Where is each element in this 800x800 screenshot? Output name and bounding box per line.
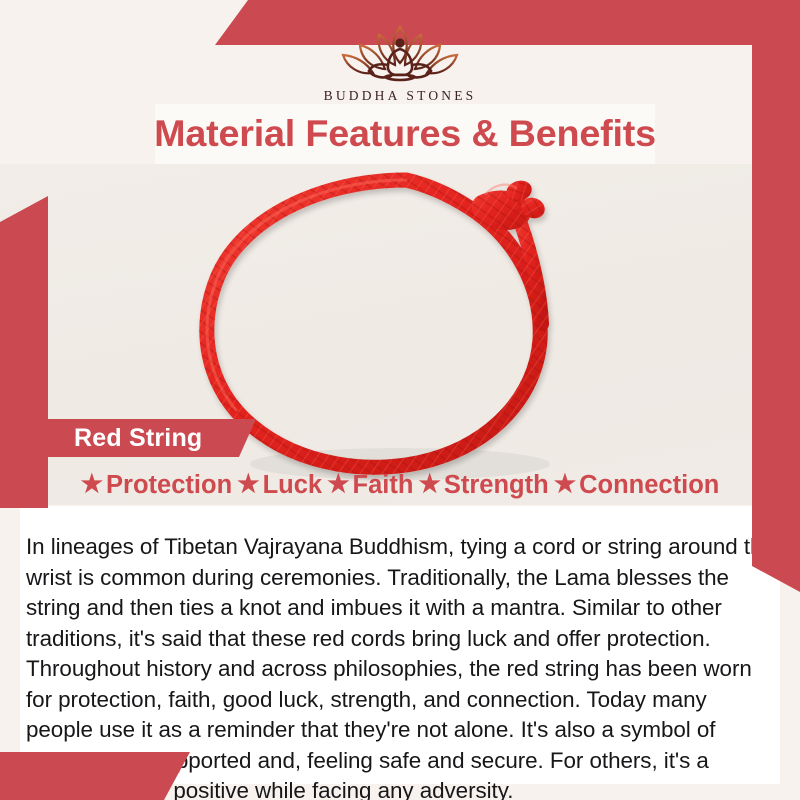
benefit-item-luck: ★ Luck bbox=[237, 471, 322, 500]
frame-band-bottom bbox=[0, 752, 190, 800]
benefit-item-protection: ★ Protection bbox=[81, 471, 233, 500]
benefit-label: Protection bbox=[106, 471, 232, 500]
brand-name: BUDDHA STONES bbox=[324, 88, 477, 104]
benefit-item-connection: ★ Connection bbox=[554, 471, 720, 500]
benefit-item-strength: ★ Strength bbox=[418, 471, 548, 500]
page-title: Material Features & Benefits bbox=[154, 113, 656, 155]
benefit-item-faith: ★ Faith bbox=[327, 471, 413, 500]
frame-band-left bbox=[0, 196, 48, 508]
lotus-meditation-icon bbox=[325, 15, 475, 87]
material-tag-label: Red String bbox=[74, 424, 202, 453]
benefit-label: Connection bbox=[579, 471, 719, 500]
star-icon: ★ bbox=[237, 472, 259, 497]
benefits-list: ★ Protection ★ Luck ★ Faith ★ Strength ★… bbox=[0, 464, 800, 506]
adjustable-knot bbox=[472, 177, 548, 230]
star-icon: ★ bbox=[554, 472, 576, 497]
star-icon: ★ bbox=[418, 472, 440, 497]
benefit-label: Faith bbox=[353, 471, 414, 500]
brand-logo: BUDDHA STONES bbox=[0, 0, 800, 108]
title-banner: Material Features & Benefits bbox=[155, 104, 655, 164]
benefit-label: Luck bbox=[263, 471, 323, 500]
star-icon: ★ bbox=[327, 472, 349, 497]
description-panel: In lineages of Tibetan Vajrayana Buddhis… bbox=[20, 506, 780, 784]
material-tag: Red String bbox=[0, 419, 256, 457]
infographic-card: BUDDHA STONES Material Features & Benefi… bbox=[0, 0, 800, 800]
star-icon: ★ bbox=[81, 472, 103, 497]
benefit-label: Strength bbox=[444, 471, 549, 500]
